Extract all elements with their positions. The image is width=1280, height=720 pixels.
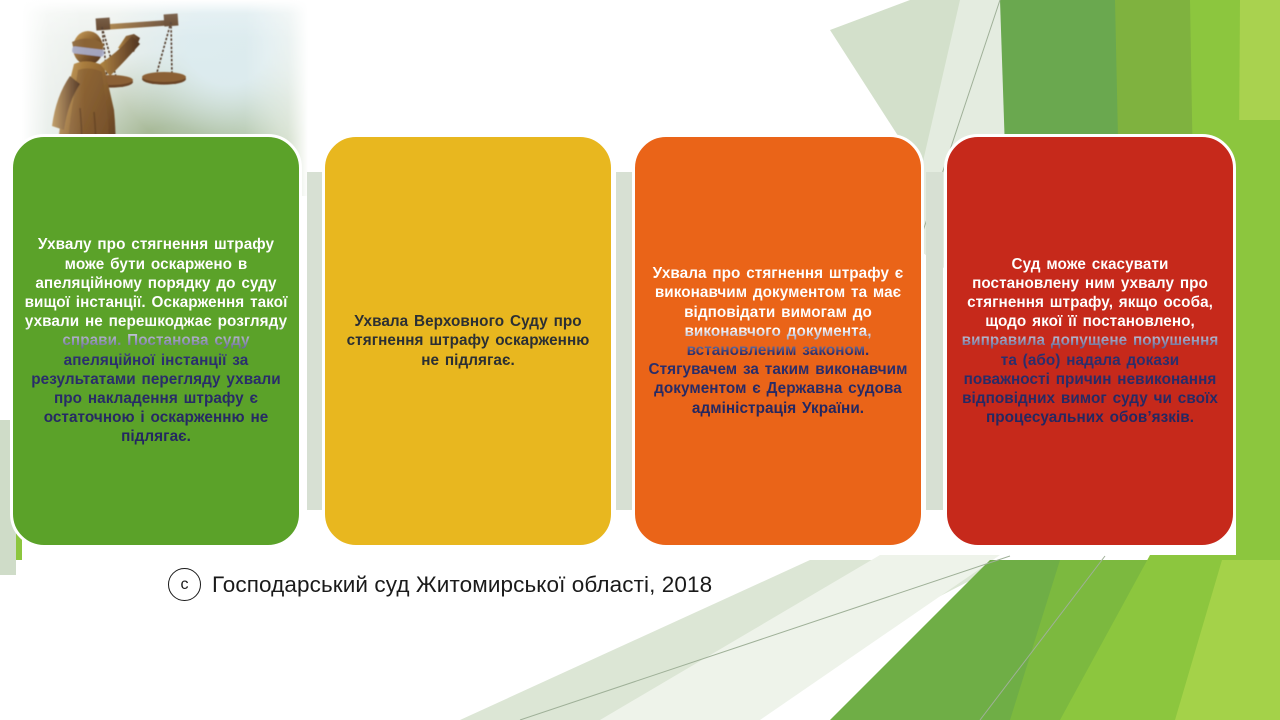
- decor-hairline-bottom-2: [980, 556, 1105, 720]
- decor-band-right: [1236, 120, 1280, 600]
- decor-shape-green-dark-bottom: [1010, 560, 1180, 720]
- slide-canvas: Ухвалу про стягнення штрафу може бути ос…: [0, 0, 1280, 720]
- info-card-yellow-text: Ухвала Верховного Суду про стягнення штр…: [325, 312, 611, 370]
- footer-attribution-text: Господарський суд Житомирської області, …: [212, 572, 712, 598]
- info-card-green-text: Ухвалу про стягнення штрафу може бути ос…: [13, 235, 299, 446]
- info-card-orange-text: Ухвала про стягнення штрафу є виконавчим…: [635, 264, 921, 418]
- decor-shape-green-mid-bottom: [830, 560, 1160, 720]
- info-card-red-text: Суд може скасувати постановлену ним ухва…: [947, 255, 1233, 428]
- decor-shape-green-light-bottom: [1060, 555, 1280, 720]
- card-gap-strip-2: [616, 172, 633, 510]
- decor-shape-green-accent-bottom: [1175, 560, 1280, 720]
- card-gap-strip-3: [926, 172, 943, 510]
- decor-shape-green-pale-right: [1238, 0, 1280, 330]
- info-card-yellow[interactable]: Ухвала Верховного Суду про стягнення штр…: [322, 134, 614, 548]
- info-card-red[interactable]: Суд може скасувати постановлену ним ухва…: [944, 134, 1236, 548]
- info-card-orange[interactable]: Ухвала про стягнення штрафу є виконавчим…: [632, 134, 924, 548]
- footer: с Господарський суд Житомирської області…: [168, 568, 712, 601]
- copyright-icon: с: [168, 568, 201, 601]
- info-card-green[interactable]: Ухвалу про стягнення штрафу може бути ос…: [10, 134, 302, 548]
